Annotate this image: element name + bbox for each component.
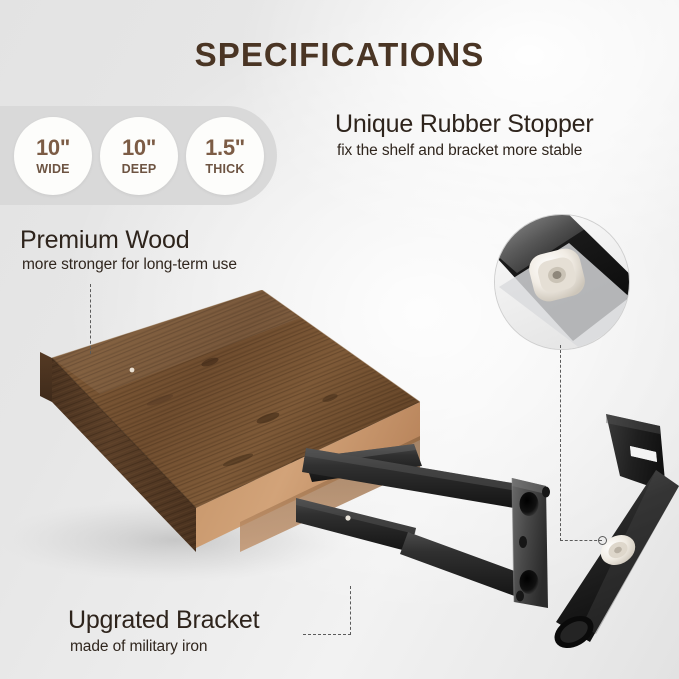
spec-badge-value: 1.5" — [205, 137, 245, 159]
spec-badge-value: 10" — [36, 137, 70, 159]
specifications-infographic: SPECIFICATIONS 10" WIDE 10" DEEP 1.5" TH… — [0, 0, 679, 679]
callout-title-rubber-stopper: Unique Rubber Stopper — [335, 110, 593, 139]
page-title: SPECIFICATIONS — [0, 36, 679, 74]
leader-line-inset-horizontal — [560, 540, 602, 541]
spec-badge-label: THICK — [205, 163, 244, 176]
leader-line-bracket-vertical — [350, 586, 351, 635]
callout-subtitle-premium-wood: more stronger for long-term use — [22, 256, 237, 274]
callout-subtitle-upgraded-bracket: made of military iron — [70, 638, 207, 656]
spec-badge-thickness: 1.5" THICK — [186, 117, 264, 195]
leader-endpoint-marker — [598, 536, 607, 545]
spec-badge-label: DEEP — [122, 163, 157, 176]
spec-badge-group: 10" WIDE 10" DEEP 1.5" THICK — [14, 112, 274, 200]
callout-subtitle-rubber-stopper: fix the shelf and bracket more stable — [337, 142, 582, 160]
leader-line-inset-vertical — [560, 345, 561, 541]
spec-badge-depth: 10" DEEP — [100, 117, 178, 195]
leader-line-premium-wood — [90, 284, 91, 354]
callout-title-upgraded-bracket: Upgrated Bracket — [68, 606, 259, 635]
spec-badge-value: 10" — [122, 137, 156, 159]
spec-badge-label: WIDE — [36, 163, 69, 176]
rubber-stopper-inset-photo — [494, 214, 630, 350]
spec-badge-width: 10" WIDE — [14, 117, 92, 195]
leader-line-bracket-horizontal — [303, 634, 351, 635]
callout-title-premium-wood: Premium Wood — [20, 226, 189, 255]
